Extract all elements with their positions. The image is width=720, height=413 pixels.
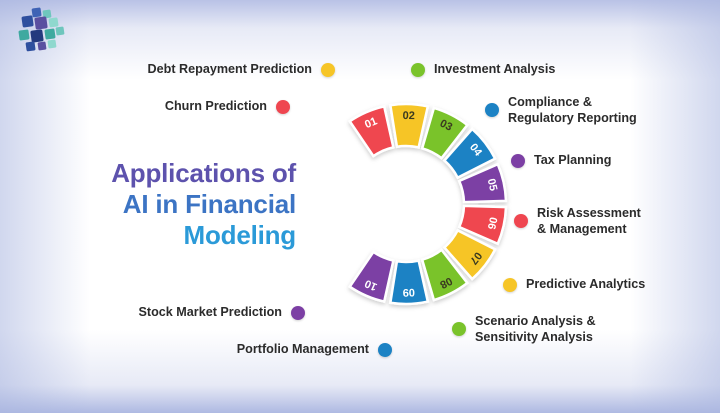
legend-dot-icon — [511, 154, 525, 168]
legend-dot-icon — [485, 103, 499, 117]
page-title: Applications of AI in Financial Modeling — [28, 158, 296, 251]
label-text: Predictive Analytics — [526, 277, 645, 293]
label-portfolio-management[interactable]: Portfolio Management — [180, 342, 392, 358]
label-text: Compliance & Regulatory Reporting — [508, 94, 637, 126]
legend-dot-icon — [514, 214, 528, 228]
legend-dot-icon — [378, 343, 392, 357]
label-text: Stock Market Prediction — [139, 305, 282, 321]
label-compliance-regulatory-reporting[interactable]: Compliance & Regulatory Reporting — [485, 94, 637, 126]
label-text: Portfolio Management — [237, 342, 369, 358]
label-tax-planning[interactable]: Tax Planning — [511, 153, 611, 169]
infographic-slide: Applications of AI in Financial Modeling… — [0, 0, 720, 413]
label-text: Scenario Analysis & Sensitivity Analysis — [475, 313, 596, 345]
squares-mosaic-logo — [16, 6, 78, 52]
label-text: Risk Assessment & Management — [537, 205, 641, 237]
label-stock-market-prediction[interactable]: Stock Market Prediction — [90, 305, 305, 321]
donut-segment-number-09: 09 — [402, 286, 415, 298]
label-predictive-analytics[interactable]: Predictive Analytics — [503, 277, 645, 293]
label-risk-assessment-management[interactable]: Risk Assessment & Management — [514, 205, 641, 237]
donut-segment-01[interactable] — [350, 106, 394, 156]
label-text: Investment Analysis — [434, 62, 555, 78]
label-scenario-sensitivity-analysis[interactable]: Scenario Analysis & Sensitivity Analysis — [452, 313, 596, 345]
legend-dot-icon — [321, 63, 335, 77]
title-line-3: Modeling — [28, 220, 296, 251]
legend-dot-icon — [291, 306, 305, 320]
label-text: Tax Planning — [534, 153, 611, 169]
legend-dot-icon — [452, 322, 466, 336]
label-investment-analysis[interactable]: Investment Analysis — [411, 62, 555, 78]
donut-chart: 01020304050607080910 — [300, 88, 512, 320]
donut-segment-10[interactable] — [350, 252, 394, 302]
legend-dot-icon — [276, 100, 290, 114]
title-line-2: AI in Financial — [28, 189, 296, 220]
legend-dot-icon — [411, 63, 425, 77]
title-line-1: Applications of — [28, 158, 296, 189]
label-text: Debt Repayment Prediction — [148, 62, 312, 78]
label-churn-prediction[interactable]: Churn Prediction — [120, 99, 290, 115]
label-text: Churn Prediction — [165, 99, 267, 115]
legend-dot-icon — [503, 278, 517, 292]
label-debt-repayment-prediction[interactable]: Debt Repayment Prediction — [120, 62, 335, 78]
donut-segment-number-02: 02 — [402, 110, 415, 122]
